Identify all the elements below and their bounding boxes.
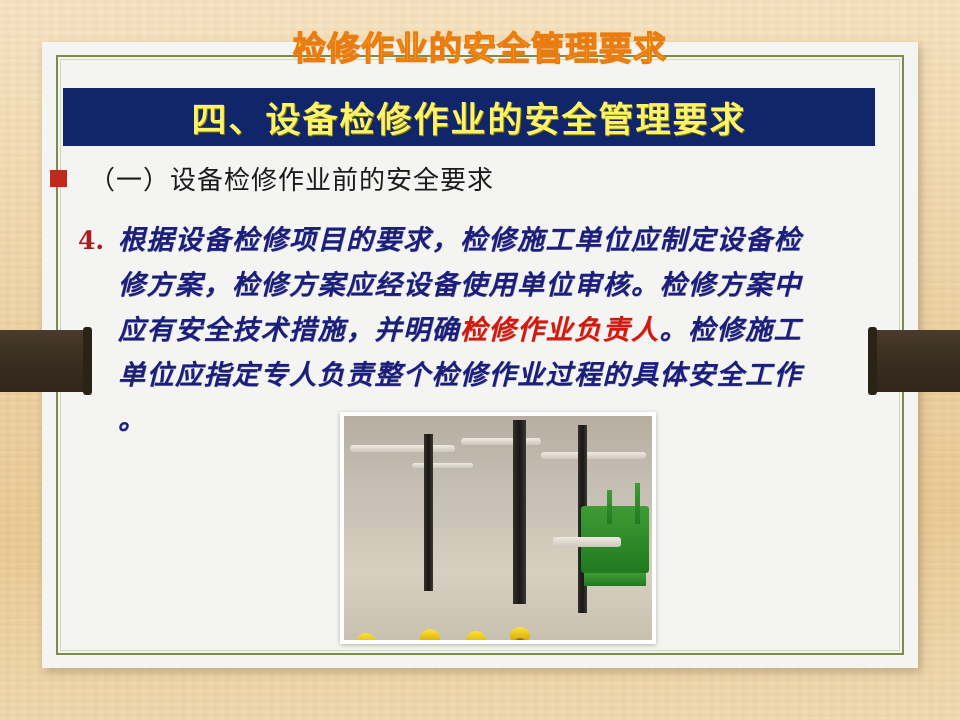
body-list-number: 4. — [78, 226, 118, 255]
photo-pipe — [350, 445, 455, 452]
body-text-line-4: 单位应指定专人负责整个检修作业过程的具体安全工作 — [118, 353, 802, 392]
square-bullet-icon — [50, 170, 67, 187]
photo-white-pipe — [553, 537, 621, 547]
photo-pipe — [541, 452, 646, 459]
body-text-line-3-post: 。检修施工 — [660, 308, 803, 347]
body-line-2: 修方案，检修方案应经设备使用单位审核。检修方案中 — [78, 263, 918, 308]
subheading-label: （一）设备检修作业前的安全要求 — [89, 160, 494, 197]
photo-pipe — [461, 438, 541, 445]
photo-green-pipe — [607, 490, 612, 524]
body-text-line-3-accent: 检修作业负责人 — [460, 308, 660, 347]
photo-column — [513, 420, 526, 604]
photo-green-pipe — [635, 483, 640, 523]
body-text-line-1: 根据设备检修项目的要求，检修施工单位应制定设备检 — [118, 218, 802, 257]
title-banner: 四、设备检修作业的安全管理要求 — [63, 88, 875, 146]
photo-pipe — [412, 463, 474, 468]
body-paragraph: 4. 根据设备检修项目的要求，检修施工单位应制定设备检 修方案，检修方案应经设备… — [78, 218, 918, 443]
photo-frame — [340, 412, 656, 644]
photo-column — [424, 434, 433, 591]
body-text-line-5: 。 — [118, 398, 147, 437]
body-line-4: 单位应指定专人负责整个检修作业过程的具体安全工作 — [78, 353, 918, 398]
industrial-site-photo — [344, 416, 652, 640]
body-text-line-3-pre: 应有安全技术措施，并明确 — [118, 308, 460, 347]
photo-green-base — [584, 573, 646, 586]
body-text-line-2: 修方案，检修方案应经设备使用单位审核。检修方案中 — [118, 263, 802, 302]
page-title: 四、设备检修作业的安全管理要求 — [191, 92, 746, 143]
watermark-heading: 检修作业的安全管理要求 — [0, 22, 960, 70]
body-line-3: 应有安全技术措施，并明确 检修作业负责人 。检修施工 — [78, 308, 918, 353]
subheading: （一）设备检修作业前的安全要求 — [50, 160, 494, 197]
body-line-1: 4. 根据设备检修项目的要求，检修施工单位应制定设备检 — [78, 218, 918, 263]
